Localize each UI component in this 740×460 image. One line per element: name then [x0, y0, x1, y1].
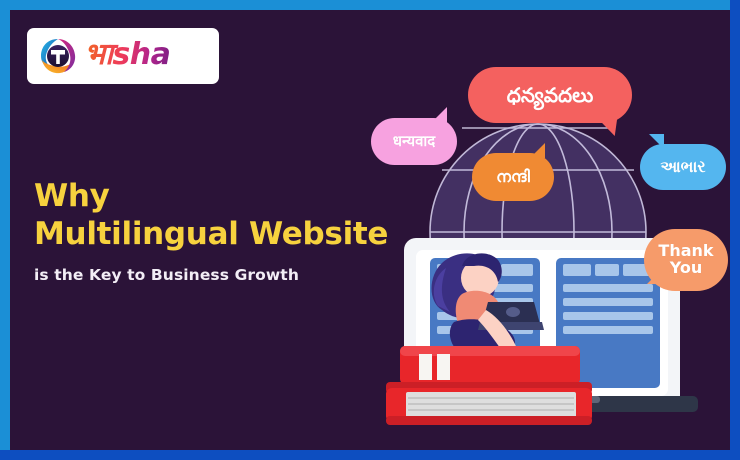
headline-line-1: Why	[34, 178, 394, 216]
speech-bubble-malayalam-text: നന്ദി	[496, 169, 530, 186]
bubble-tail-icon	[431, 107, 447, 123]
speech-bubble-hindi-text: धन्यवाद	[393, 134, 436, 150]
headline-subtitle: is the Key to Business Growth	[34, 266, 394, 284]
speech-bubble-english-line2: You	[670, 260, 703, 277]
headline-block: Why Multilingual Website is the Key to B…	[34, 178, 394, 284]
stacked-books-graphic	[386, 346, 592, 425]
speech-bubble-gujarati-text: આભાર	[660, 159, 705, 176]
speech-bubble-gujarati: આભાર	[640, 144, 726, 190]
speech-bubble-malayalam: നന്ദി	[472, 153, 554, 201]
bubble-tail-icon	[647, 266, 665, 284]
bhasha-swirl-logo-icon	[38, 36, 78, 76]
bubble-tail-icon	[649, 134, 664, 149]
bubble-tail-icon	[595, 118, 618, 136]
bubble-tail-icon	[530, 143, 545, 158]
headline-line-2: Multilingual Website	[34, 216, 394, 254]
brand-wordmark: भाsha	[84, 40, 170, 73]
speech-bubble-telugu-text: ధన్యవదలు	[507, 85, 594, 106]
speech-bubble-hindi: धन्यवाद	[371, 118, 457, 165]
banner-canvas: ధన్యవదలు धन्यवाद നന്ദി આભાર Thank You	[10, 10, 730, 450]
promo-banner: ధన్యవదలు धन्यवाद നന്ദി આભાર Thank You	[0, 0, 740, 460]
speech-bubble-english: Thank You	[644, 229, 728, 291]
brand-logo[interactable]: भाsha	[27, 28, 219, 84]
speech-bubble-telugu: ధన్యవదలు	[468, 67, 632, 123]
